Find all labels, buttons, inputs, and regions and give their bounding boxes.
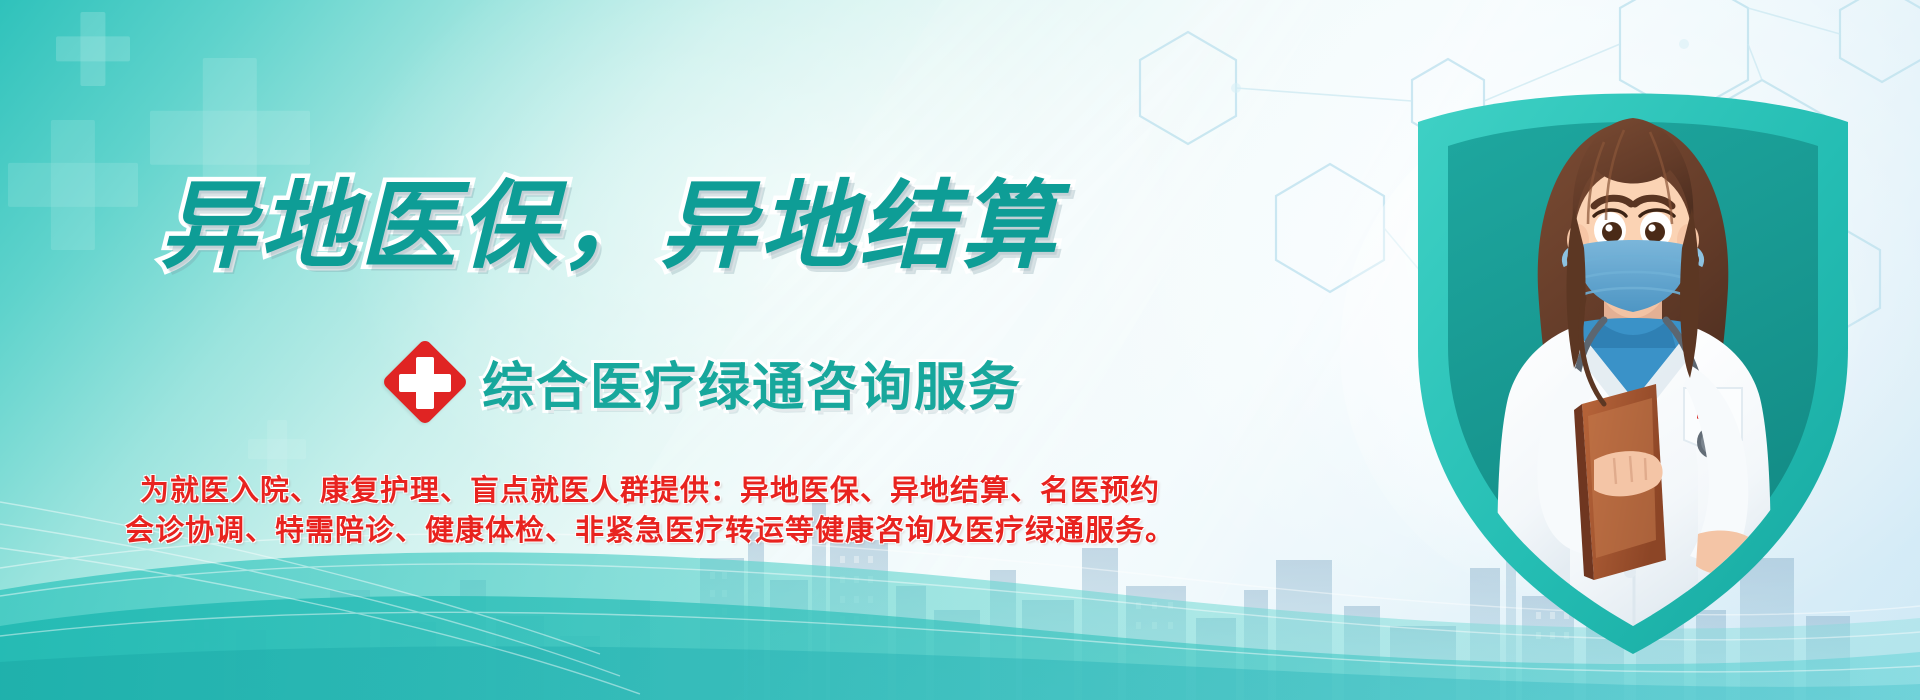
subtitle-text: 综合医疗绿通咨询服务 bbox=[482, 345, 1022, 420]
female-doctor-illustration bbox=[1398, 48, 1868, 668]
page-title: 异地医保，异地结算 bbox=[160, 178, 1060, 274]
medical-service-banner: 异地医保，异地结算 综合医疗绿通咨询服务 为就医入院、康复护理、盲点就医人群提供… bbox=[0, 0, 1920, 700]
red-cross-diamond-icon bbox=[386, 343, 464, 421]
body-line-1: 为就医入院、康复护理、盲点就医人群提供：异地医保、异地结算、名医预约 bbox=[0, 470, 1300, 510]
body-line-2: 会诊协调、特需陪诊、健康体检、非紧急医疗转运等健康咨询及医疗绿通服务。 bbox=[0, 510, 1300, 550]
body-copy: 为就医入院、康复护理、盲点就医人群提供：异地医保、异地结算、名医预约 会诊协调、… bbox=[0, 470, 1300, 550]
subtitle-row: 综合医疗绿通咨询服务 bbox=[386, 343, 1022, 421]
banner-content: 异地医保，异地结算 综合医疗绿通咨询服务 为就医入院、康复护理、盲点就医人群提供… bbox=[0, 0, 1330, 700]
